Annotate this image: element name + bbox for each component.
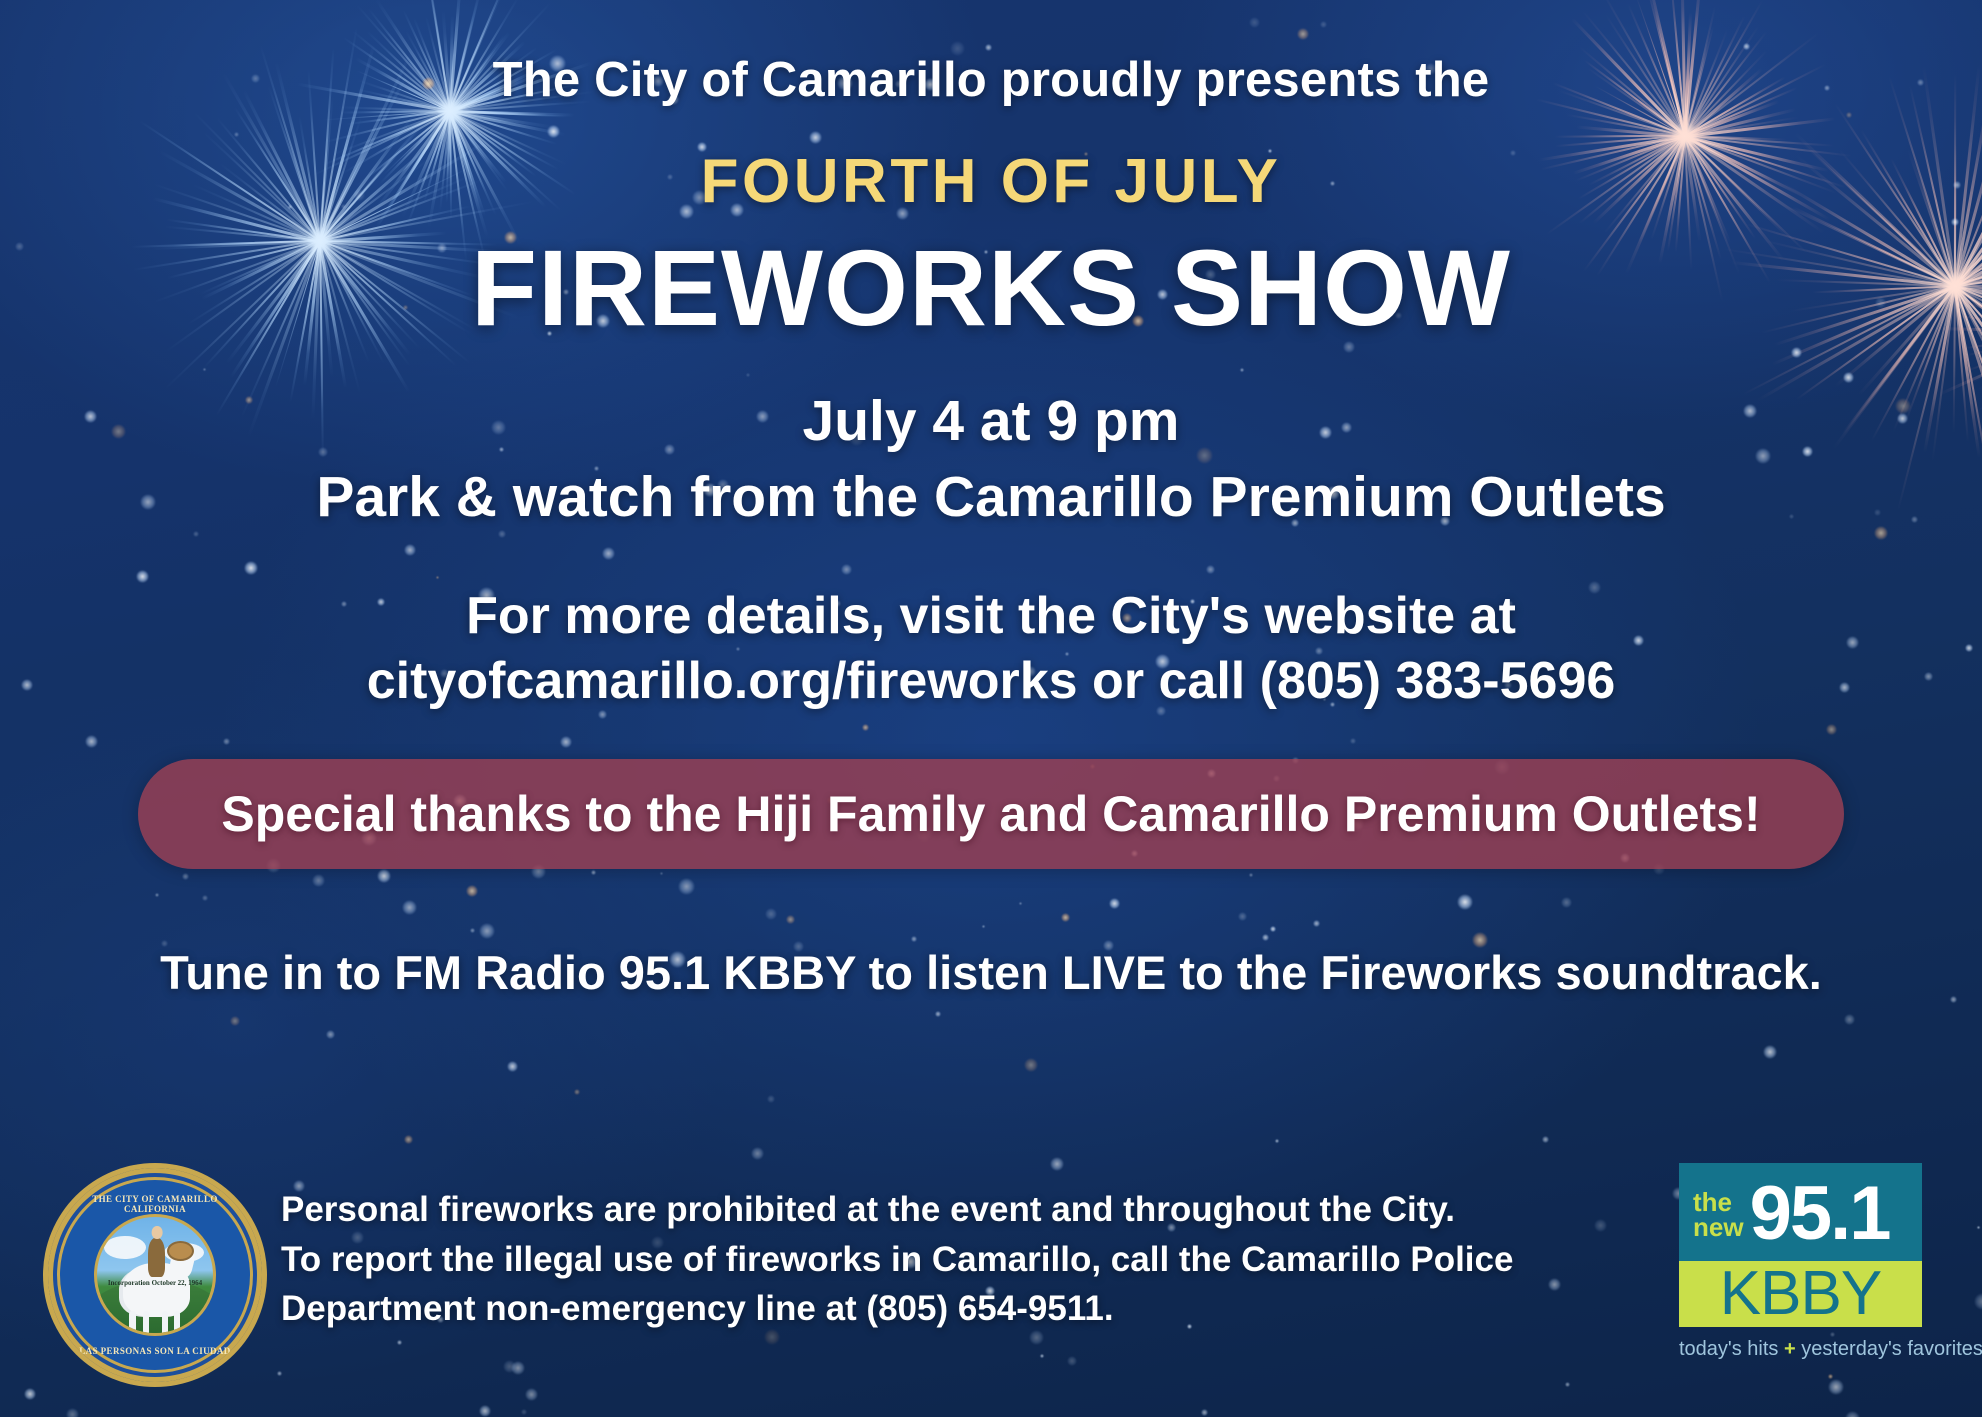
event-details: For more details, visit the City's websi… (367, 584, 1616, 713)
disclaimer-line-2: To report the illegal use of fireworks i… (281, 1235, 1701, 1285)
kbby-tagline-after: yesterday's favorites (1796, 1338, 1982, 1360)
sponsor-thanks-text: Special thanks to the Hiji Family and Ca… (221, 785, 1760, 843)
seal-cloud-icon (104, 1236, 146, 1259)
kbby-tagline: today's hits + yesterday's favorites (1679, 1338, 1922, 1361)
details-line-1: For more details, visit the City's websi… (367, 584, 1616, 648)
seal-horse-leg (162, 1311, 169, 1336)
kbby-new-label: new (1693, 1215, 1744, 1239)
kbby-tagline-before: today's hits (1679, 1338, 1784, 1360)
kbby-frequency: 95.1 (1750, 1181, 1890, 1248)
seal-text-top: THE CITY OF CAMARILLO CALIFORNIA (60, 1194, 250, 1214)
details-line-2: cityofcamarillo.org/fireworks or call (8… (367, 649, 1616, 713)
fireworks-disclaimer: Personal fireworks are prohibited at the… (281, 1185, 1701, 1334)
seal-hat-icon (167, 1241, 194, 1261)
city-of-camarillo-seal-icon: THE CITY OF CAMARILLO CALIFORNIA LAS PER… (48, 1168, 262, 1382)
seal-emblem: Incorporation October 22, 1964 (94, 1214, 216, 1336)
seal-horse-leg (129, 1311, 136, 1336)
event-location: Park & watch from the Camarillo Premium … (316, 464, 1665, 530)
disclaimer-line-1: Personal fireworks are prohibited at the… (281, 1185, 1701, 1235)
seal-text-bottom: LAS PERSONAS SON LA CIUDAD (60, 1346, 250, 1356)
kbby-the-new-label: the new (1693, 1190, 1744, 1238)
sponsor-thanks-banner: Special thanks to the Hiji Family and Ca… (138, 759, 1844, 869)
presents-line: The City of Camarillo proudly presents t… (493, 52, 1490, 108)
seal-horse-leg (143, 1311, 150, 1336)
kbby-callsign: KBBY (1720, 1263, 1881, 1325)
kbby-frequency-block: the new 95.1 (1679, 1163, 1922, 1261)
event-kicker: FOURTH OF JULY (701, 146, 1282, 217)
event-title: FIREWORKS SHOW (471, 231, 1511, 344)
seal-rider-icon (148, 1238, 165, 1277)
seal-incorporation-date: Incorporation October 22, 1964 (97, 1279, 213, 1287)
kbby-the-label: the (1693, 1190, 1744, 1214)
seal-horse-leg (174, 1311, 181, 1336)
kbby-radio-logo: the new 95.1 KBBY today's hits + yesterd… (1679, 1163, 1922, 1361)
event-datetime: July 4 at 9 pm (803, 388, 1180, 454)
seal-outer-ring: THE CITY OF CAMARILLO CALIFORNIA LAS PER… (57, 1177, 253, 1373)
seal-rider-head (151, 1226, 162, 1239)
disclaimer-line-3: Department non-emergency line at (805) 6… (281, 1284, 1701, 1334)
kbby-callsign-block: KBBY (1679, 1261, 1922, 1327)
kbby-tagline-plus-icon: + (1784, 1338, 1796, 1360)
fireworks-flyer: The City of Camarillo proudly presents t… (0, 0, 1982, 1417)
radio-tune-in-line: Tune in to FM Radio 95.1 KBBY to listen … (160, 945, 1822, 1000)
